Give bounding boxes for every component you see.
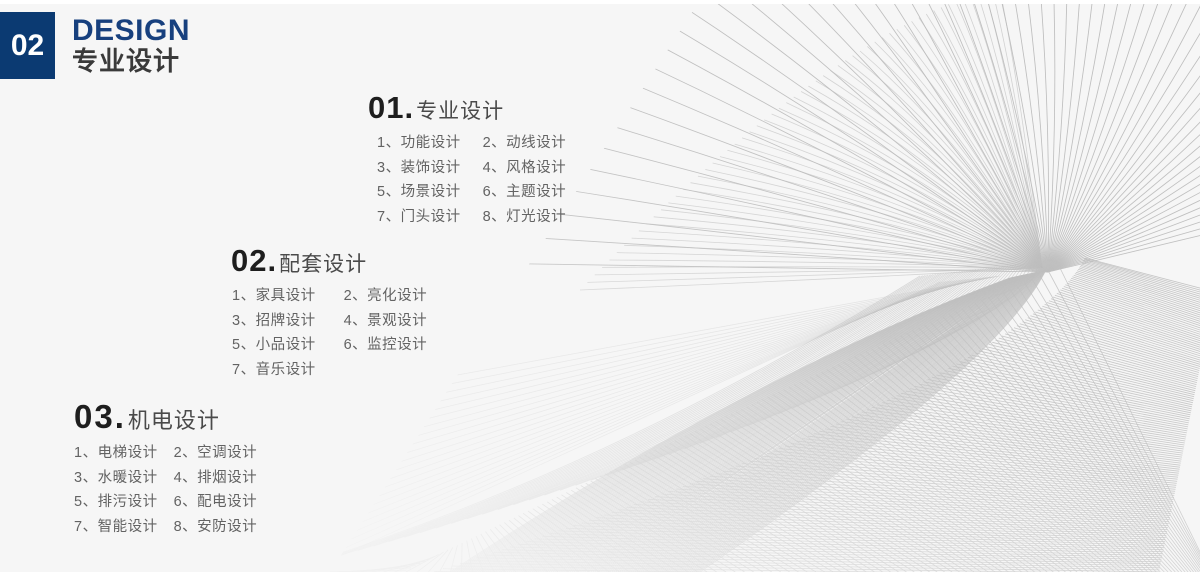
list-item: 1、电梯设计	[74, 441, 174, 466]
list-item: 2、动线设计	[483, 131, 567, 156]
list-item: 1、功能设计	[377, 131, 483, 156]
title-block: DESIGN 专业设计	[72, 12, 190, 79]
list-item: 4、景观设计	[344, 309, 428, 334]
list-item: 2、空调设计	[174, 441, 258, 466]
list-item: 2、亮化设计	[344, 284, 428, 309]
list-item: 4、风格设计	[483, 156, 567, 181]
list-item: 6、监控设计	[344, 333, 428, 358]
list-item: 5、排污设计	[74, 490, 174, 515]
section-03-heading: 03. 机电设计	[74, 400, 257, 433]
section-03-number: 03.	[74, 400, 126, 433]
title-chinese: 专业设计	[72, 47, 190, 77]
list-item: 7、智能设计	[74, 515, 174, 540]
list-item: 3、招牌设计	[232, 309, 344, 334]
list-item: 3、装饰设计	[377, 156, 483, 181]
list-item: 6、主题设计	[483, 180, 567, 205]
list-item: 4、排烟设计	[174, 466, 258, 491]
list-item: 7、门头设计	[377, 205, 483, 230]
section-number-badge: 02	[0, 12, 55, 79]
section-03-list: 1、电梯设计2、空调设计3、水暖设计4、排烟设计5、排污设计6、配电设计7、智能…	[74, 441, 257, 539]
section-02: 02. 配套设计 1、家具设计2、亮化设计3、招牌设计4、景观设计5、小品设计6…	[231, 245, 427, 382]
list-item: 1、家具设计	[232, 284, 344, 309]
section-01-label: 专业设计	[416, 101, 504, 122]
section-03: 03. 机电设计 1、电梯设计2、空调设计3、水暖设计4、排烟设计5、排污设计6…	[74, 400, 257, 539]
list-item: 5、场景设计	[377, 180, 483, 205]
list-item: 7、音乐设计	[232, 358, 344, 383]
list-item: 3、水暖设计	[74, 466, 174, 491]
title-english: DESIGN	[72, 15, 190, 47]
badge-number-text: 02	[11, 31, 44, 61]
section-01-list: 1、功能设计2、动线设计3、装饰设计4、风格设计5、场景设计6、主题设计7、门头…	[377, 131, 566, 229]
list-item: 5、小品设计	[232, 333, 344, 358]
slide-canvas: 02 DESIGN 专业设计 01. 专业设计 1、功能设计2、动线设计3、装饰…	[0, 0, 1200, 572]
section-01-heading: 01. 专业设计	[368, 92, 566, 123]
section-03-label: 机电设计	[128, 410, 220, 432]
section-01: 01. 专业设计 1、功能设计2、动线设计3、装饰设计4、风格设计5、场景设计6…	[368, 92, 566, 229]
section-02-number: 02.	[231, 245, 277, 276]
list-item: 8、灯光设计	[483, 205, 567, 230]
section-01-number: 01.	[368, 92, 414, 123]
list-item: 8、安防设计	[174, 515, 258, 540]
list-item: 6、配电设计	[174, 490, 258, 515]
slide-header: 02 DESIGN 专业设计	[0, 12, 190, 79]
top-white-strip	[0, 0, 1200, 4]
section-02-label: 配套设计	[279, 254, 367, 275]
section-02-heading: 02. 配套设计	[231, 245, 427, 276]
section-02-list: 1、家具设计2、亮化设计3、招牌设计4、景观设计5、小品设计6、监控设计7、音乐…	[232, 284, 427, 382]
